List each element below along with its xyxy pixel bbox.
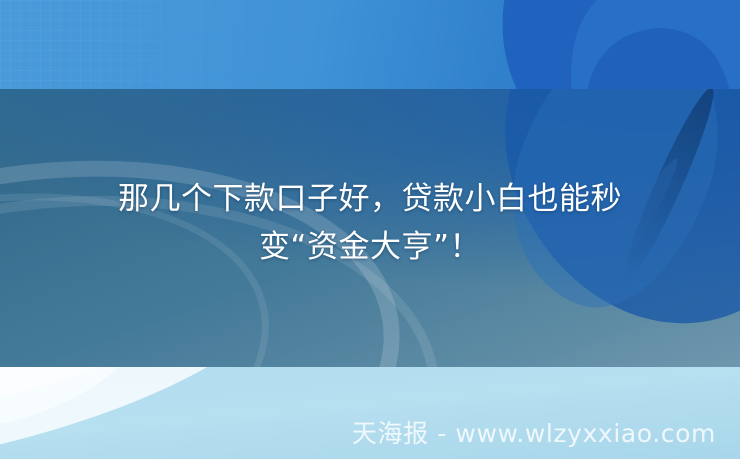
article-cover-banner: 那几个下款口子好，贷款小白也能秒 变“资金大亨”！ 天海报 - www.wlzy… [0,0,740,459]
top-color-band [0,0,740,89]
banner-title-line-1: 那几个下款口子好，贷款小白也能秒 [40,175,700,223]
site-watermark: 天海报 - www.wlzyxxiao.com [352,419,716,449]
banner-title: 那几个下款口子好，贷款小白也能秒 变“资金大亨”！ [0,175,740,271]
dot-grid-pattern [0,0,420,89]
banner-title-line-2: 变“资金大亨”！ [40,223,700,271]
